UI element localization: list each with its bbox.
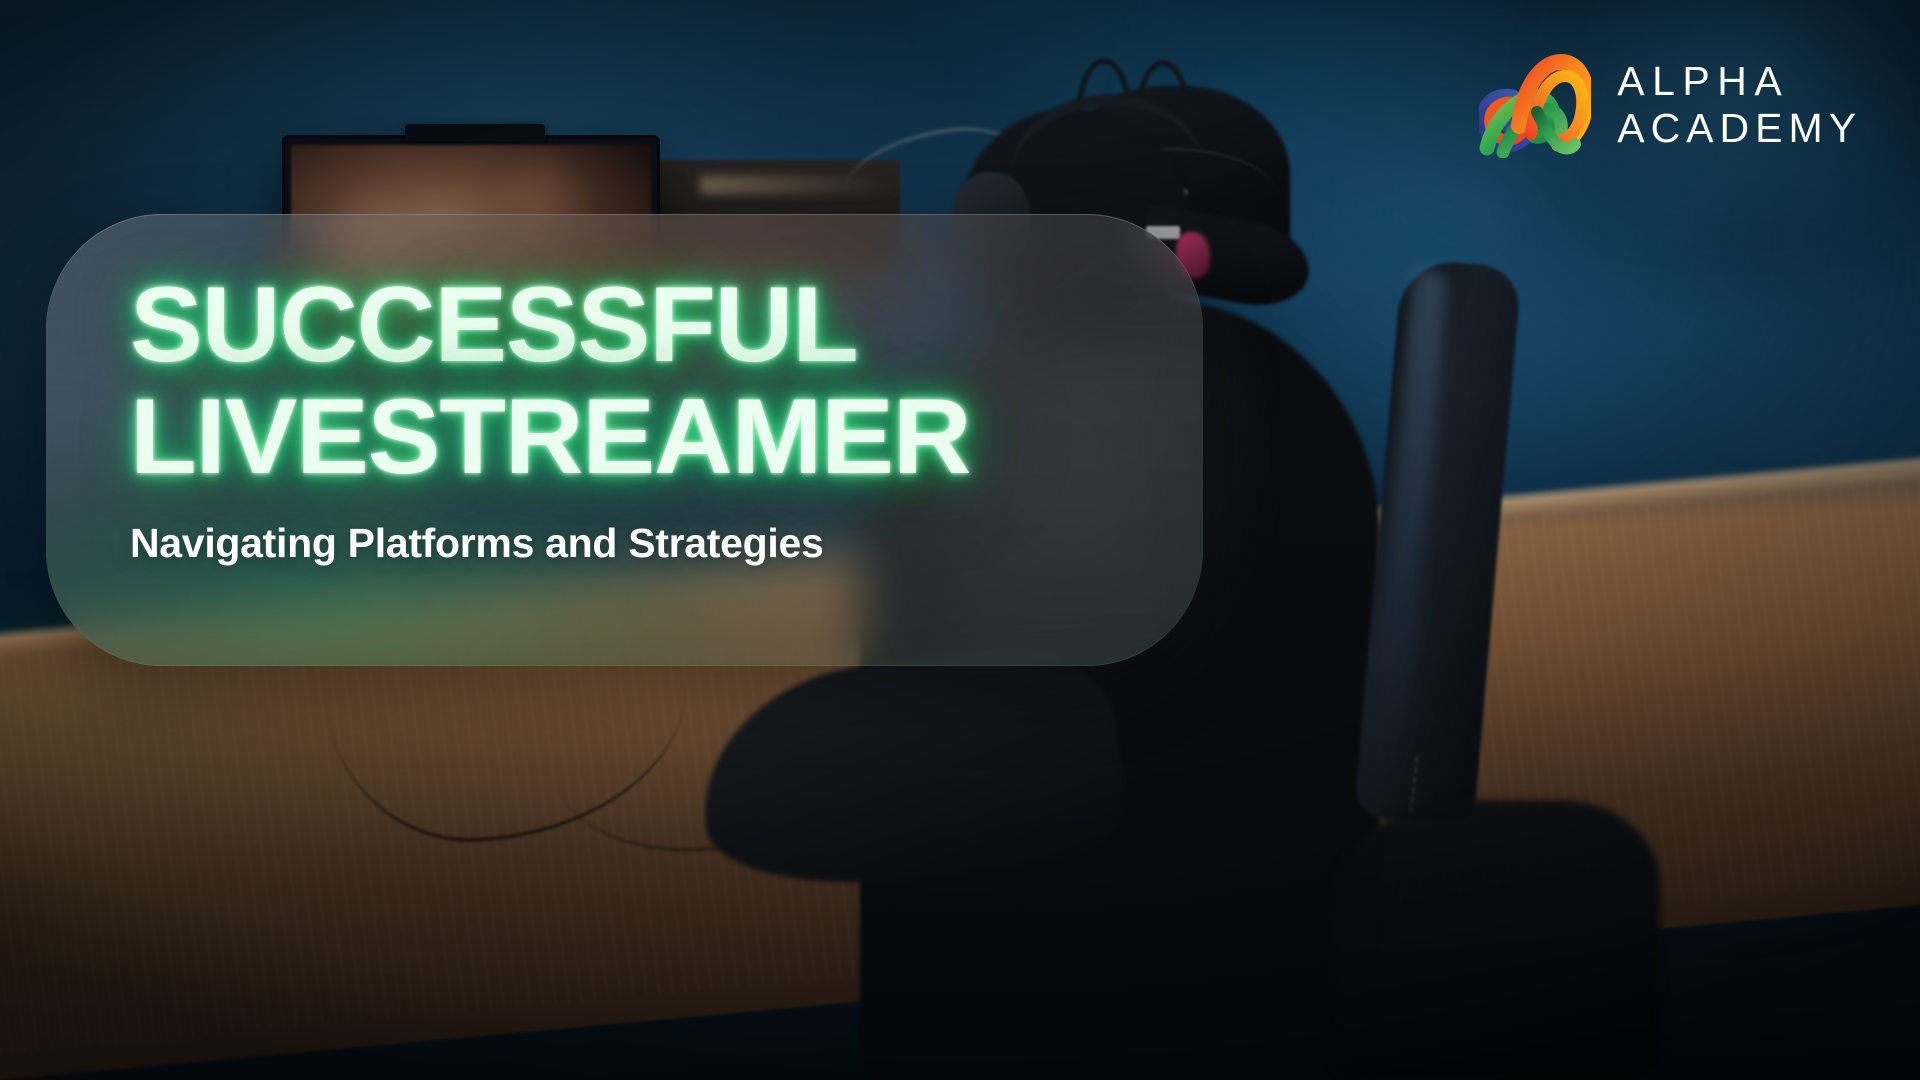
brand-name-line-1: ALPHA <box>1617 61 1862 102</box>
page-title-line-1: SUCCESSFUL <box>130 264 858 384</box>
brand-name-line-2: ACADEMY <box>1617 108 1862 149</box>
title-card-content: SUCCESSFULLIVESTREAMER Navigating Platfo… <box>130 272 1163 626</box>
title-glass-card: SUCCESSFULLIVESTREAMER Navigating Platfo… <box>46 214 1203 666</box>
page-subtitle: Navigating Platforms and Strategies <box>130 520 1163 567</box>
alpha-academy-ribbon-infinity-icon <box>1479 52 1591 158</box>
brand-wordmark: ALPHA ACADEMY <box>1617 61 1862 149</box>
brand-logo[interactable]: ALPHA ACADEMY <box>1479 52 1862 158</box>
banner-stage: SUCCESSFULLIVESTREAMER Navigating Platfo… <box>0 0 1920 1080</box>
page-title-line-2: LIVESTREAMER <box>130 384 1184 490</box>
page-title: SUCCESSFULLIVESTREAMER <box>130 272 1184 490</box>
